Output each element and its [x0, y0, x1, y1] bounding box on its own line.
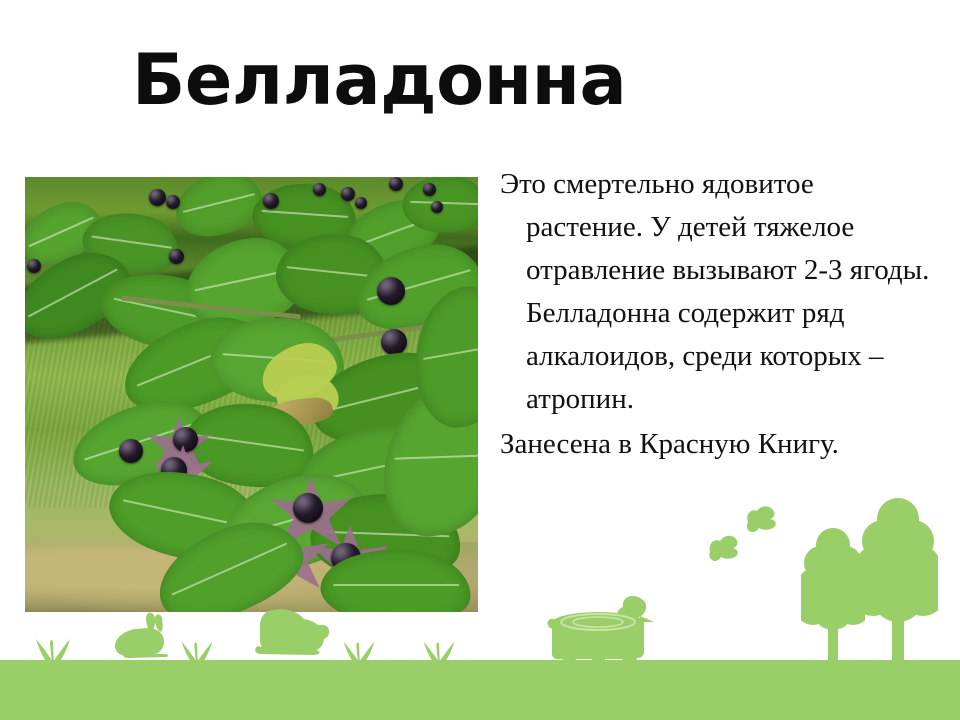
belladonna-photo: [25, 177, 478, 612]
large-tree-silhouette: [858, 495, 938, 670]
rabbit-silhouette: [112, 611, 174, 663]
flying-bird-silhouette: [706, 532, 752, 566]
grass-ground-band: [0, 660, 960, 720]
photo-canvas: [25, 177, 478, 612]
paragraph-2: Занесена в Красную Книгу.: [500, 423, 930, 466]
slide-canvas: Белладонна: [0, 0, 960, 720]
paragraph-1: Это смертельно ядовитое растение. У дете…: [500, 163, 930, 421]
frog-silhouette: [252, 604, 332, 662]
flying-bird-silhouette: [742, 504, 788, 536]
page-title: Белладонна: [132, 44, 832, 118]
tree-stump-silhouette: [536, 592, 666, 670]
body-text-block: Это смертельно ядовитое растение. У дете…: [500, 163, 930, 468]
small-tree-silhouette: [801, 525, 865, 670]
